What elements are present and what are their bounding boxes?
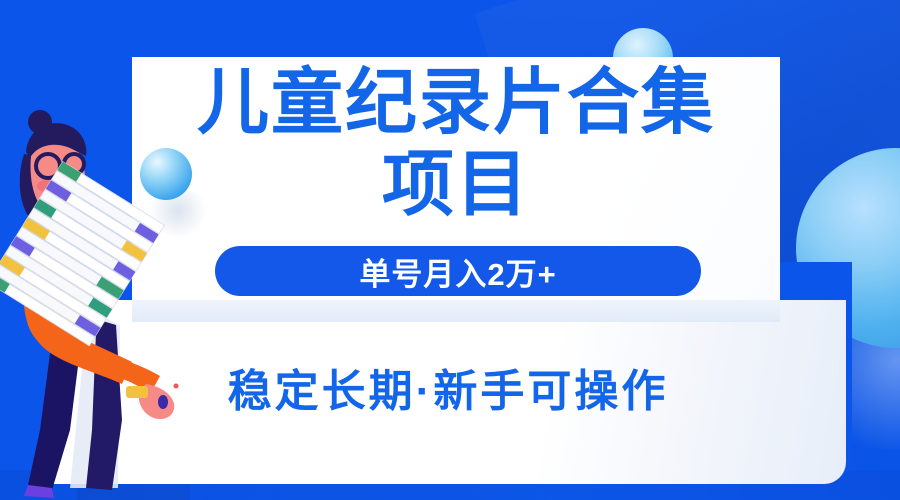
poster-canvas: 儿童纪录片合集 项目 单号月入2万+ 稳定长期·新手可操作 bbox=[0, 0, 900, 500]
status-badge-label: 单号月入2万+ bbox=[359, 249, 556, 294]
status-badge: 单号月入2万+ bbox=[215, 246, 701, 296]
woman-carrying-books-illustration bbox=[0, 100, 230, 500]
